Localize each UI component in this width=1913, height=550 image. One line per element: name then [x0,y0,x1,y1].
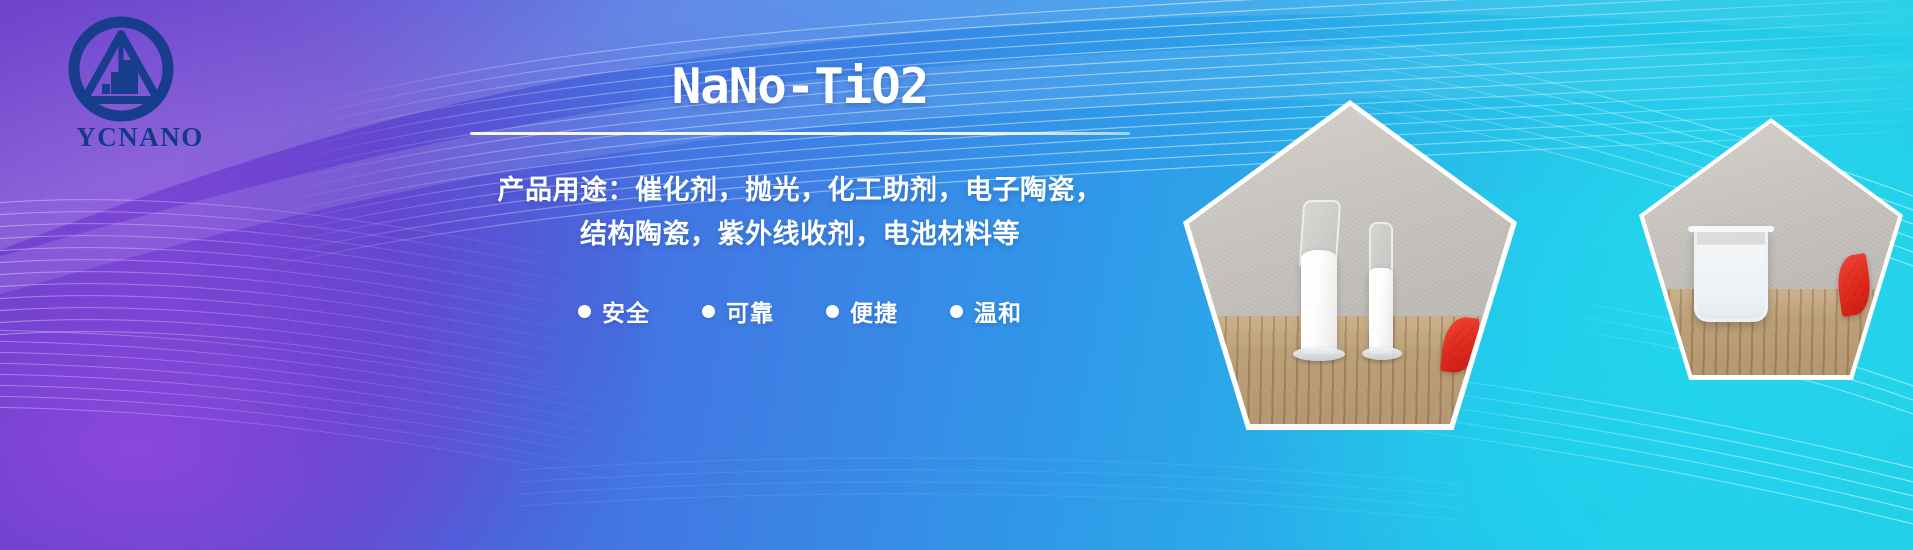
title-divider [470,132,1130,135]
feature-item-reliable: 可靠 [702,294,774,328]
bullet-dot-icon [702,305,715,318]
logo-mark-svg [66,14,176,124]
brand-logo[interactable]: YCNANO [52,14,228,154]
feature-label: 便捷 [850,294,898,328]
description-line-1: 产品用途：催化剂，抛光，化工助剂，电子陶瓷， [470,169,1130,213]
beaker-lip [1688,226,1774,232]
bullet-dot-icon [950,305,963,318]
vase-tall-icon [1301,250,1337,354]
product-photos [1173,0,1913,550]
feature-item-mild: 温和 [950,294,1022,328]
description-line-2: 结构陶瓷，紫外线收剂，电池材料等 [470,213,1130,257]
vase-base [1293,347,1345,361]
feature-item-convenient: 便捷 [826,294,898,328]
banner-content: NaNo-TiO2 产品用途：催化剂，抛光，化工助剂，电子陶瓷， 结构陶瓷，紫外… [470,62,1130,328]
photo-scene [1644,123,1898,375]
feature-label: 可靠 [726,294,774,328]
beaker-icon [1694,228,1768,322]
feature-item-safe: 安全 [578,294,650,328]
photo-backdrop [1189,106,1511,316]
product-photo-beaker[interactable] [1644,123,1898,375]
bullet-dot-icon [826,305,839,318]
ycnano-logo-icon [66,14,176,124]
vase-slim-icon [1369,268,1393,354]
product-title: NaNo-TiO2 [470,62,1130,112]
feature-list: 安全 可靠 便捷 温和 [470,294,1130,328]
brand-name: YCNANO [52,122,228,153]
feature-label: 温和 [974,294,1022,328]
product-description: 产品用途：催化剂，抛光，化工助剂，电子陶瓷， 结构陶瓷，紫外线收剂，电池材料等 [470,169,1130,256]
bullet-dot-icon [578,305,591,318]
vase-base [1362,347,1402,360]
feature-label: 安全 [602,294,650,328]
photo-scene [1189,106,1511,424]
product-photo-vases[interactable] [1189,106,1511,424]
product-banner: YCNANO NaNo-TiO2 产品用途：催化剂，抛光，化工助剂，电子陶瓷， … [0,0,1913,550]
